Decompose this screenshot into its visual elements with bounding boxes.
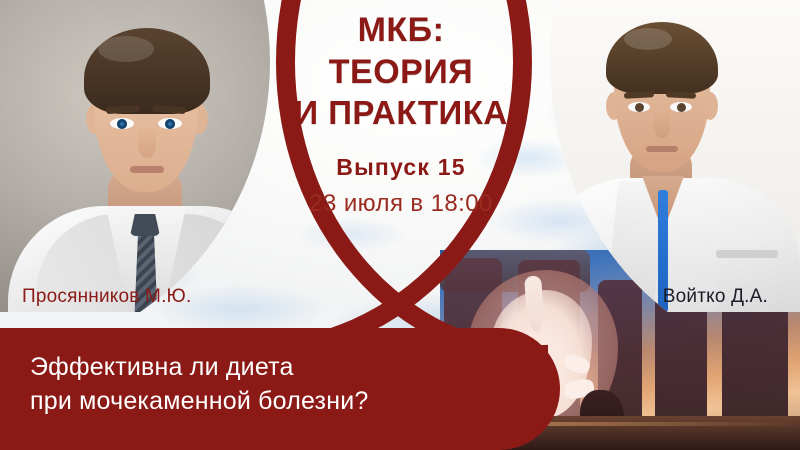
title-line-3: И ПРАКТИКА bbox=[256, 93, 546, 134]
portrait-left-figure bbox=[0, 0, 300, 312]
speaker-name-left: Просянников М.Ю. bbox=[22, 286, 191, 308]
event-datetime-label: 23 июля в 18:00 bbox=[256, 190, 546, 218]
speaker-name-right: Войтко Д.А. bbox=[663, 286, 768, 308]
title-line-2: ТЕОРИЯ bbox=[256, 51, 546, 93]
portrait-left-nose bbox=[138, 128, 156, 158]
portrait-left-tie-knot bbox=[130, 214, 160, 236]
topic-caption-banner: Эффективна ли диета при мочекаменной бол… bbox=[0, 328, 560, 450]
portrait-right-nose bbox=[654, 110, 670, 138]
topic-caption-text: Эффективна ли диета при мочекаменной бол… bbox=[30, 350, 470, 418]
caption-line-2: при мочекаменной болезни? bbox=[30, 384, 470, 418]
headline-column: МКБ: ТЕОРИЯ И ПРАКТИКА Выпуск 15 23 июля… bbox=[256, 0, 546, 218]
portrait-left-iris-left bbox=[117, 119, 127, 129]
portrait-left-iris-right bbox=[165, 119, 175, 129]
portrait-photo-left bbox=[0, 0, 300, 312]
webinar-announcement-banner: МКБ: ТЕОРИЯ И ПРАКТИКА Выпуск 15 23 июля… bbox=[0, 0, 800, 450]
issue-number-label: Выпуск 15 bbox=[256, 154, 546, 181]
portrait-photo-right bbox=[530, 0, 800, 312]
title-line-1: МКБ: bbox=[256, 9, 546, 51]
caption-line-1: Эффективна ли диета bbox=[30, 350, 470, 384]
portrait-right-mask bbox=[530, 0, 800, 312]
portrait-right-pocket-right bbox=[716, 250, 778, 258]
portrait-right-mouth bbox=[646, 146, 678, 152]
portrait-left-mask bbox=[0, 0, 300, 312]
portrait-right-iris-left bbox=[635, 103, 644, 112]
page-title: МКБ: ТЕОРИЯ И ПРАКТИКА bbox=[256, 0, 546, 134]
portrait-left-mouth bbox=[130, 166, 164, 173]
portrait-right-pocket-left bbox=[550, 258, 598, 266]
portrait-right-iris-right bbox=[677, 103, 686, 112]
portrait-right-figure bbox=[530, 0, 800, 312]
